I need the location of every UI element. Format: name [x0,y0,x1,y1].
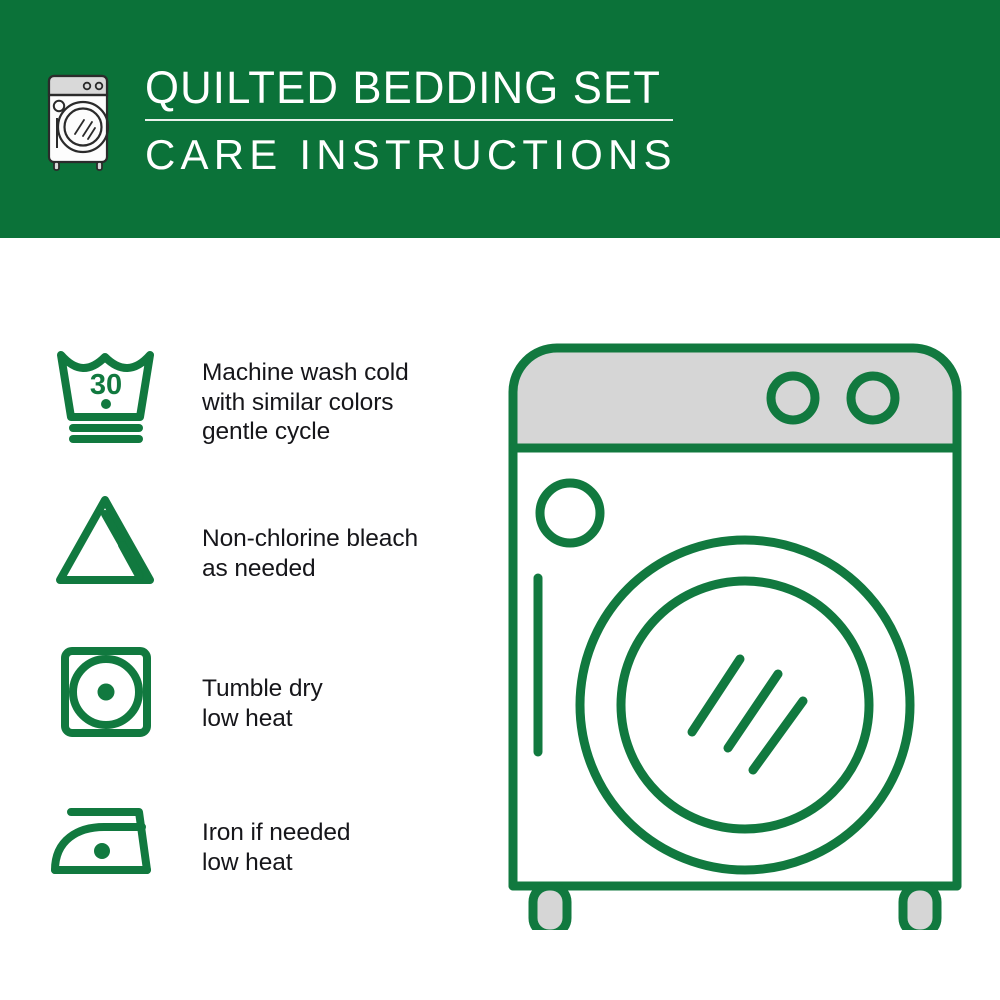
title-block: QUILTED BEDDING SET CARE INSTRUCTIONS [145,62,945,179]
care-text-line: as needed [202,554,418,584]
care-row-bleach: Non-chlorine bleach as needed [46,486,486,636]
drum-stroke-2 [728,674,778,748]
washing-machine-illustration [495,330,975,930]
care-text-line: Iron if needed [202,818,350,848]
care-text-iron: Iron if needed low heat [166,786,350,877]
bleach-triangle-icon [46,486,166,596]
drum-stroke-1 [692,659,740,732]
page-subtitle: CARE INSTRUCTIONS [145,131,945,179]
care-text-line: low heat [202,848,350,878]
header-content: QUILTED BEDDING SET CARE INSTRUCTIONS [42,62,962,182]
drum-inner-ring [621,581,869,829]
care-text-line: Non-chlorine bleach [202,524,418,554]
page-title: QUILTED BEDDING SET [145,62,921,114]
care-instructions-infographic: QUILTED BEDDING SET CARE INSTRUCTIONS 30 [0,0,1000,1000]
iron-icon [46,786,166,896]
care-text-tumble-dry: Tumble dry low heat [166,636,323,733]
wash-temperature-label: 30 [90,369,122,401]
wash-tub-30-icon: 30 [46,336,166,446]
indicator-button [540,483,600,543]
care-row-wash: 30 Machine wash cold with similar colors… [46,336,486,486]
drum-stroke-3 [753,701,803,770]
washing-machine-icon [42,66,120,176]
tumble-dry-icon [46,636,166,746]
leg-right [903,886,937,930]
care-text-line: low heat [202,704,323,734]
care-text-line: with similar colors [202,388,409,418]
care-row-iron: Iron if needed low heat [46,786,486,936]
title-divider [145,119,673,121]
care-text-line: Machine wash cold [202,358,409,388]
care-text-line: gentle cycle [202,417,409,447]
care-text-bleach: Non-chlorine bleach as needed [166,486,418,583]
drum-outer-ring [580,540,910,870]
care-text-line: Tumble dry [202,674,323,704]
control-panel-fill [513,348,957,448]
care-text-wash: Machine wash cold with similar colors ge… [166,336,409,447]
care-instruction-list: 30 Machine wash cold with similar colors… [46,336,486,936]
header-banner: QUILTED BEDDING SET CARE INSTRUCTIONS [0,0,1000,238]
leg-left [533,886,567,930]
care-row-tumble-dry: Tumble dry low heat [46,636,486,786]
machine-legs [533,886,937,930]
